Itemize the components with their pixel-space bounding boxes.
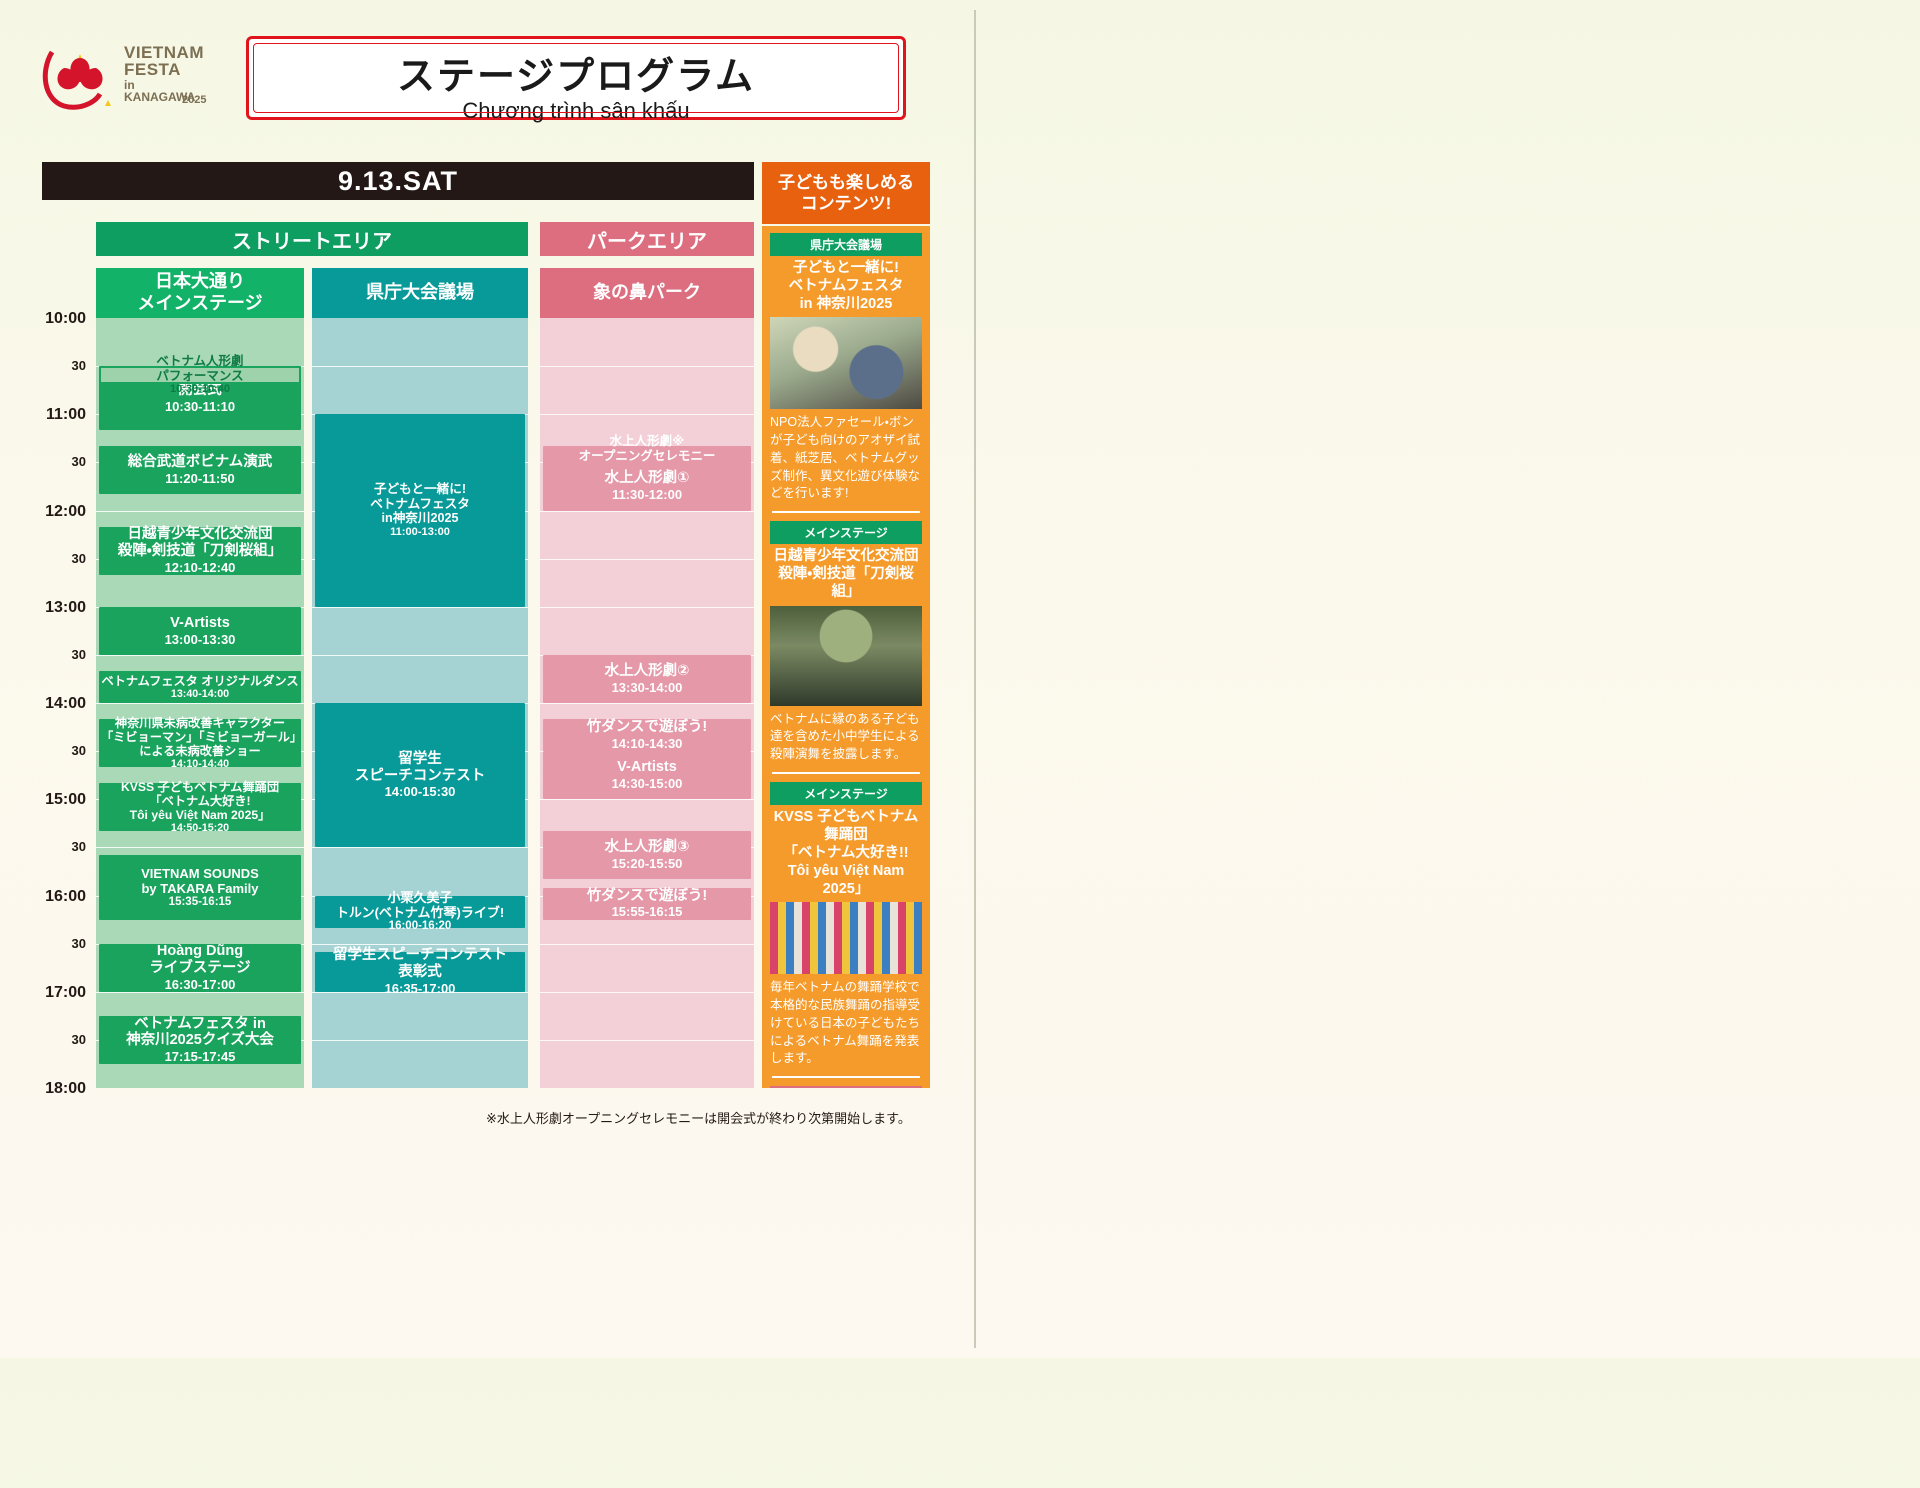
- schedule-event[interactable]: ベトナム人形劇パフォーマンス10:30-10:40: [99, 366, 301, 384]
- time-tick: 30: [72, 936, 86, 951]
- event-time: 17:15-17:45: [165, 1049, 236, 1064]
- kids-header-sat: 子どもも楽しめるコンテンツ!: [762, 162, 930, 224]
- grid-line: [540, 414, 754, 415]
- schedule-event[interactable]: 小栗久美子トルン(ベトナム竹琴)ライブ!16:00-16:20: [315, 896, 525, 928]
- grid-line: [96, 655, 304, 656]
- lotus-logo-icon: [42, 42, 120, 112]
- event-time: 10:30-11:10: [165, 399, 235, 414]
- time-tick: 30: [72, 839, 86, 854]
- page-title-jp: ステージプログラム: [249, 45, 903, 100]
- event-title: トルン(ベトナム竹琴)ライブ!: [336, 905, 504, 920]
- event-time: 16:30-17:00: [165, 977, 236, 992]
- kids-block-text: NPO法人ファセール・ボンが子ども向けのアオザイ試着、紙芝居、ベトナムグッズ制作…: [770, 414, 922, 503]
- event-time: 10:30-10:40: [170, 383, 230, 396]
- time-tick: 30: [72, 551, 86, 566]
- event-title: 竹ダンスで遊ぼう!: [587, 888, 708, 905]
- event-title: Hoàng Dũng: [157, 943, 243, 960]
- time-tick: 12:00: [45, 503, 86, 521]
- event-title: 殺陣・剣技道「刀剣桜組」: [118, 543, 282, 560]
- event-title: 留学生: [398, 751, 442, 768]
- logo-line-2: FESTA: [124, 61, 204, 78]
- event-title: 表彰式: [398, 964, 442, 981]
- grid-line: [96, 511, 304, 512]
- grid-line: [540, 366, 754, 367]
- event-title: 「ミビョーマン」「ミビョーガール」: [101, 730, 299, 744]
- track-hall-sat: 子どもと一緒に!ベトナムフェスタin神奈川202511:00-13:00留学生ス…: [312, 318, 528, 1088]
- kids-block-text: ベトナムに縁のある子ども達を含めた小中学生による殺陣演舞を披露します。: [770, 711, 922, 764]
- schedule-event[interactable]: 水上人形劇②13:30-14:00: [543, 655, 751, 703]
- time-tick: 15:00: [45, 791, 86, 809]
- event-title: VIETNAM SOUNDS: [141, 866, 259, 881]
- schedule-event[interactable]: 子どもと一緒に!ベトナムフェスタin神奈川202511:00-13:00: [315, 414, 525, 607]
- kids-divider: [772, 511, 920, 513]
- event-time: 14:50-15:20: [171, 822, 229, 834]
- area-header-park-sat: パークエリア: [540, 222, 754, 256]
- event-title: in神奈川2025: [382, 511, 459, 526]
- saturday-pane: VIETNAM FESTA in KANAGAWA 2025 ステージプログラム…: [0, 0, 974, 1358]
- grid-line: [312, 847, 528, 848]
- event-title: 水上人形劇①: [605, 470, 690, 487]
- event-title: ベトナム人形劇: [156, 354, 243, 369]
- event-title: 水上人形劇③: [605, 839, 690, 856]
- event-time: 14:00-15:30: [385, 784, 456, 799]
- grid-line: [540, 1040, 754, 1041]
- page-title: ステージプログラム Chương trình sân khấu: [246, 36, 906, 120]
- time-tick: 30: [72, 358, 86, 373]
- event-time: 15:55-16:15: [612, 904, 683, 919]
- event-title: 神奈川県未病改善キャラクター: [115, 716, 285, 730]
- event-title: 留学生スピーチコンテスト: [333, 947, 507, 964]
- schedule-event[interactable]: 水上人形劇①11:30-12:00: [543, 462, 751, 510]
- schedule-event[interactable]: VIETNAM SOUNDSby TAKARA Family15:35-16:1…: [99, 855, 301, 919]
- event-title: V-Artists: [617, 759, 677, 776]
- event-time: 13:30-14:00: [612, 680, 683, 695]
- event-title: パフォーマンス: [156, 369, 243, 384]
- footnote-sat: ※水上人形劇オープニングセレモニーは開会式が終わり次第開始します。: [486, 1108, 911, 1127]
- event-title: による未病改善ショー: [139, 744, 261, 758]
- schedule-event[interactable]: 神奈川県未病改善キャラクター「ミビョーマン」「ミビョーガール」による未病改善ショ…: [99, 719, 301, 767]
- grid-line: [540, 944, 754, 945]
- schedule-event[interactable]: 水上人形劇③15:20-15:50: [543, 831, 751, 879]
- grid-line: [312, 1040, 528, 1041]
- sunday-pane: 新企画 ベトナムフェスタ オリジナルダンス ベトナムフェスタin神奈川のオリジナ…: [974, 0, 1920, 1358]
- event-time: 15:35-16:15: [169, 896, 232, 909]
- event-time: 13:00-13:30: [165, 632, 236, 647]
- time-tick: 30: [72, 743, 86, 758]
- time-tick: 14:00: [45, 695, 86, 713]
- kids-divider: [772, 1076, 920, 1078]
- time-tick: 30: [72, 454, 86, 469]
- grid-line: [312, 944, 528, 945]
- event-title: 水上人形劇②: [605, 663, 690, 680]
- grid-line: [540, 607, 754, 608]
- event-title: ベトナムフェスタ in: [134, 1016, 266, 1033]
- schedule-event[interactable]: KVSS 子どもベトナム舞踊団「ベトナム大好き!Tôi yêu Việt Nam…: [99, 783, 301, 831]
- page-title-vi: Chương trình sân khấu: [249, 98, 903, 124]
- kids-venue-tag: 県庁大会議場: [770, 233, 922, 256]
- time-tick: 10:00: [45, 310, 86, 328]
- kids-venue-tag: 象の鼻パーク: [770, 1086, 922, 1088]
- event-title: 日越青少年文化交流団: [128, 526, 273, 543]
- event-time: 14:10-14:30: [612, 736, 683, 751]
- kids-block-title: 子どもと一緒に!ベトナムフェスタin 神奈川2025: [770, 259, 922, 313]
- event-title: ライブステージ: [149, 960, 250, 977]
- grid-line: [540, 703, 754, 704]
- grid-line: [540, 511, 754, 512]
- event-title: 総合武道ボビナム演武: [128, 454, 273, 471]
- event-time: 16:35-17:00: [385, 981, 456, 996]
- event-title: 「ベトナム大好き!: [149, 794, 250, 808]
- kids-photo: [770, 317, 922, 409]
- grid-line: [540, 799, 754, 800]
- event-title: スピーチコンテスト: [355, 768, 486, 785]
- time-tick: 30: [72, 1032, 86, 1047]
- schedule-event[interactable]: ベトナムフェスタ オリジナルダンス13:40-14:00: [99, 671, 301, 703]
- kids-block-text: 毎年ベトナムの舞踊学校で本格的な民族舞踊の指導受けている日本の子どもたちによるベ…: [770, 979, 922, 1068]
- time-tick: 13:00: [45, 599, 86, 617]
- event-title: KVSS 子どもベトナム舞踊団: [121, 780, 279, 794]
- event-time: 16:00-16:20: [389, 920, 452, 933]
- schedule-event[interactable]: Hoàng Dũngライブステージ16:30-17:00: [99, 944, 301, 992]
- schedule-event[interactable]: ベトナムフェスタ in神奈川2025クイズ大会17:15-17:45: [99, 1016, 301, 1064]
- time-tick: 11:00: [46, 406, 86, 424]
- schedule-event[interactable]: 日越青少年文化交流団殺陣・剣技道「刀剣桜組」12:10-12:40: [99, 527, 301, 575]
- time-axis-saturday: 10:003011:003012:003013:003014:003015:00…: [34, 310, 90, 1080]
- event-time: 14:30-15:00: [612, 776, 683, 791]
- time-tick: 18:00: [45, 1080, 86, 1098]
- event-title: オープニングセレモニー: [579, 449, 716, 464]
- grid-line: [312, 607, 528, 608]
- event-time: 14:10-14:40: [171, 758, 229, 770]
- time-tick: 17:00: [45, 984, 86, 1002]
- event-title: 子どもと一緒に!: [374, 482, 466, 497]
- grid-line: [312, 655, 528, 656]
- kids-divider: [772, 772, 920, 774]
- grid-line: [312, 366, 528, 367]
- logo-year: 2025: [182, 94, 206, 106]
- day-label-saturday: 9.13.SAT: [42, 162, 754, 200]
- event-title: by TAKARA Family: [141, 881, 258, 896]
- event-title: 小栗久美子: [387, 890, 452, 905]
- kids-body-sat: 県庁大会議場子どもと一緒に!ベトナムフェスタin 神奈川2025NPO法人ファセ…: [762, 226, 930, 1088]
- grid-line: [540, 992, 754, 993]
- schedule-event[interactable]: V-Artists13:00-13:30: [99, 607, 301, 655]
- grid-line: [96, 847, 304, 848]
- time-tick: 30: [72, 647, 86, 662]
- festival-logo: VIETNAM FESTA in KANAGAWA 2025: [42, 36, 202, 116]
- venue-hall-sat: 県庁大会議場: [312, 268, 528, 318]
- grid-line: [96, 703, 304, 704]
- event-title: 竹ダンスで遊ぼう!: [587, 719, 708, 736]
- event-title: V-Artists: [170, 615, 230, 632]
- event-time: 11:30-12:00: [612, 487, 682, 502]
- area-header-street-sat: ストリートエリア: [96, 222, 528, 256]
- kids-photo: [770, 902, 922, 974]
- event-time: 11:20-11:50: [165, 471, 234, 486]
- schedule-event[interactable]: 竹ダンスで遊ぼう!14:10-14:30: [543, 719, 751, 751]
- event-time: 13:40-14:00: [171, 688, 229, 700]
- track-park-sat: 水上人形劇※オープニングセレモニー11:20-11:30水上人形劇①11:30-…: [540, 318, 754, 1088]
- grid-line: [540, 559, 754, 560]
- event-title: ベトナムフェスタ オリジナルダンス: [101, 674, 298, 688]
- event-title: 水上人形劇※: [610, 434, 685, 449]
- schedule-event[interactable]: 留学生スピーチコンテスト14:00-15:30: [315, 703, 525, 847]
- venue-park-sat: 象の鼻パーク: [540, 268, 754, 318]
- kids-block-title: 日越青少年文化交流団殺陣・剣技道「刀剣桜組」: [770, 547, 922, 601]
- event-title: ベトナムフェスタ: [370, 497, 470, 512]
- track-main-stage-sat: ベトナム人形劇パフォーマンス10:30-10:40開会式10:30-11:10総…: [96, 318, 304, 1088]
- schedule-event[interactable]: 留学生スピーチコンテスト表彰式16:35-17:00: [315, 952, 525, 992]
- kids-block-title: KVSS 子どもベトナム舞踊団「ベトナム大好き!!Tôi yêu Việt Na…: [770, 808, 922, 899]
- event-title: 神奈川2025クイズ大会: [126, 1032, 274, 1049]
- event-time: 15:20-15:50: [612, 856, 683, 871]
- kids-photo: [770, 606, 922, 706]
- event-title: Tôi yêu Việt Nam 2025」: [130, 808, 271, 822]
- schedule-event[interactable]: 竹ダンスで遊ぼう!15:55-16:15: [543, 888, 751, 920]
- event-time: 12:10-12:40: [165, 560, 236, 575]
- logo-line-1: VIETNAM: [124, 44, 204, 61]
- schedule-event[interactable]: 総合武道ボビナム演武11:20-11:50: [99, 446, 301, 494]
- kids-venue-tag: メインステージ: [770, 521, 922, 544]
- program-page: VIETNAM FESTA in KANAGAWA 2025 ステージプログラム…: [0, 0, 1920, 1358]
- kids-venue-tag: メインステージ: [770, 782, 922, 805]
- time-tick: 16:00: [45, 888, 86, 906]
- event-time: 11:00-13:00: [390, 526, 450, 539]
- venue-main-stage-sat: 日本大通りメインステージ: [96, 268, 304, 318]
- schedule-event[interactable]: V-Artists14:30-15:00: [543, 751, 751, 799]
